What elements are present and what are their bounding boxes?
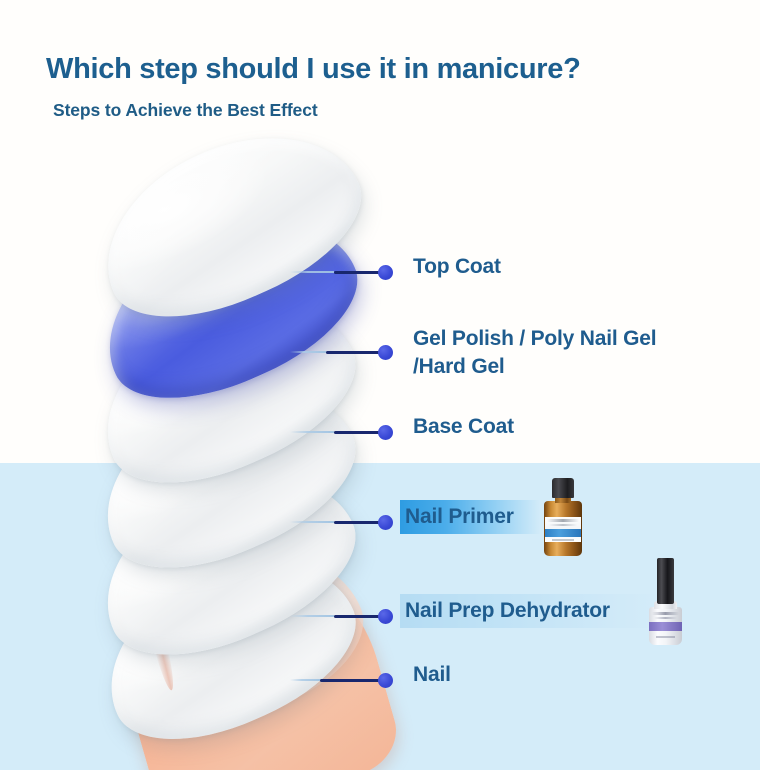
leader-line-top-coat (334, 271, 382, 274)
label-nail: Nail (408, 658, 457, 692)
leader-dot-nail (378, 673, 393, 688)
label-top-coat: Top Coat (408, 250, 507, 284)
bottle-label-text-line (652, 612, 679, 615)
leader-line-nail-prep-dehydrator (334, 615, 382, 618)
bottle-label-text-line (547, 519, 579, 522)
leader-dot-base-coat (378, 425, 393, 440)
bottle-cap-icon (657, 558, 674, 604)
label-nail-prep-dehydrator: Nail Prep Dehydrator (400, 594, 661, 628)
nail-layer-stack-illustration (0, 0, 420, 770)
leader-dot-nail-prep-dehydrator (378, 609, 393, 624)
label-base-coat: Base Coat (408, 410, 520, 444)
leader-line-base-coat (334, 431, 382, 434)
leader-line-nail (320, 679, 382, 682)
leader-soft-top-coat (290, 271, 334, 273)
bottle-label-band (545, 529, 581, 537)
leader-dot-nail-primer (378, 515, 393, 530)
leader-soft-base-coat (290, 431, 334, 433)
leader-line-gel-polish (326, 351, 382, 354)
nail-primer-bottle (540, 478, 588, 558)
bottle-label-text-line (549, 524, 577, 526)
infographic-page: Which step should I use it in manicure? … (0, 0, 760, 770)
nail-prep-dehydrator-bottle (644, 558, 688, 646)
bottle-cap-icon (552, 478, 574, 498)
bottle-label-footer-line (656, 636, 675, 638)
bottle-label-footer-line (552, 539, 574, 541)
bottle-label-band (649, 622, 682, 631)
leader-soft-nail-prep-dehydrator (290, 615, 334, 617)
leader-dot-top-coat (378, 265, 393, 280)
leader-soft-gel-polish (290, 351, 326, 353)
leader-soft-nail-primer (290, 521, 334, 523)
leader-line-nail-primer (334, 521, 382, 524)
bottle-label-text-line (654, 617, 677, 619)
leader-soft-nail (290, 679, 320, 681)
leader-dot-gel-polish (378, 345, 393, 360)
label-gel-polish: Gel Polish / Poly Nail Gel /Hard Gel (408, 322, 662, 384)
label-nail-primer: Nail Primer (400, 500, 541, 534)
